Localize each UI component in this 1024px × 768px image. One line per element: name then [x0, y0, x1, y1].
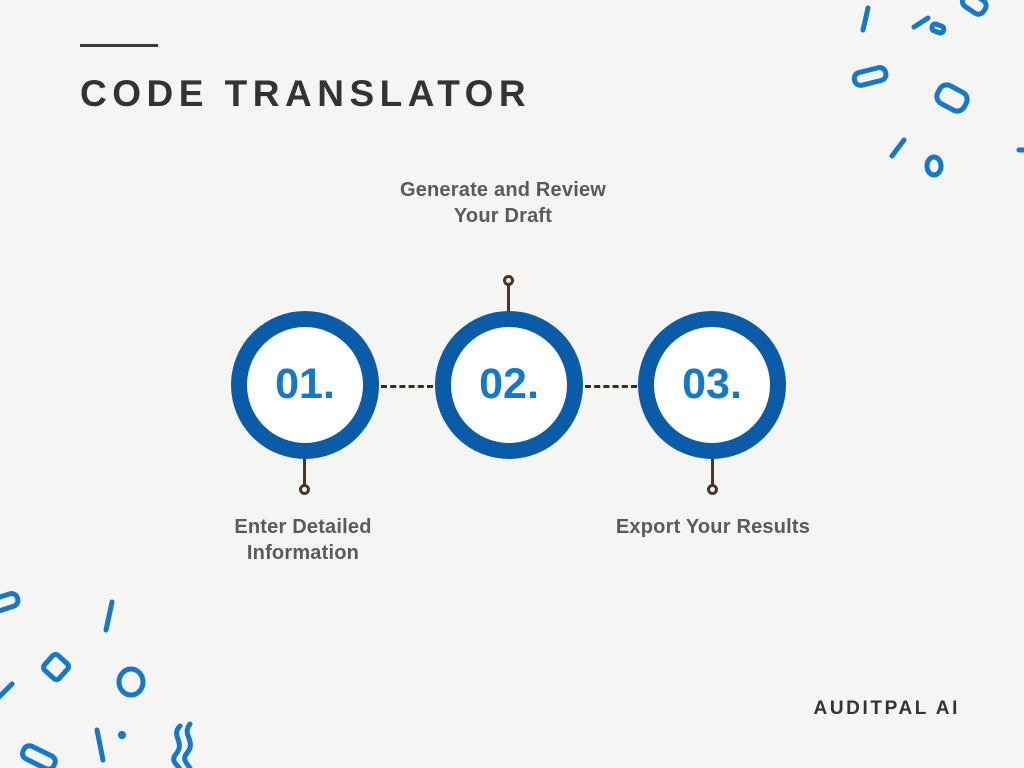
step-1-circle[interactable]: 01.: [231, 311, 379, 459]
step-2-label: Generate and Review Your Draft: [385, 178, 621, 229]
step-2-number: 02.: [479, 363, 539, 406]
dashed-connector-2-3: [585, 385, 637, 388]
step-2-circle[interactable]: 02.: [435, 311, 583, 459]
step-1-label: Enter Detailed Information: [185, 515, 421, 566]
step-2-stem-ring-icon: [503, 275, 514, 286]
dashed-connector-1-2: [381, 385, 433, 388]
slide-canvas: CODE TRANSLATOR 01. 02. 03. Generate and…: [0, 0, 1024, 768]
step-3-stem-ring-icon: [707, 484, 718, 495]
step-3-label: Export Your Results: [595, 515, 831, 541]
step-1-stem-ring-icon: [299, 484, 310, 495]
step-1-number: 01.: [275, 363, 335, 406]
step-3-circle[interactable]: 03.: [638, 311, 786, 459]
step-3-number: 03.: [682, 363, 742, 406]
process-diagram: 01. 02. 03. Generate and Review Your Dra…: [0, 0, 1024, 768]
brand-mark: AUDITPAL AI: [814, 698, 960, 720]
